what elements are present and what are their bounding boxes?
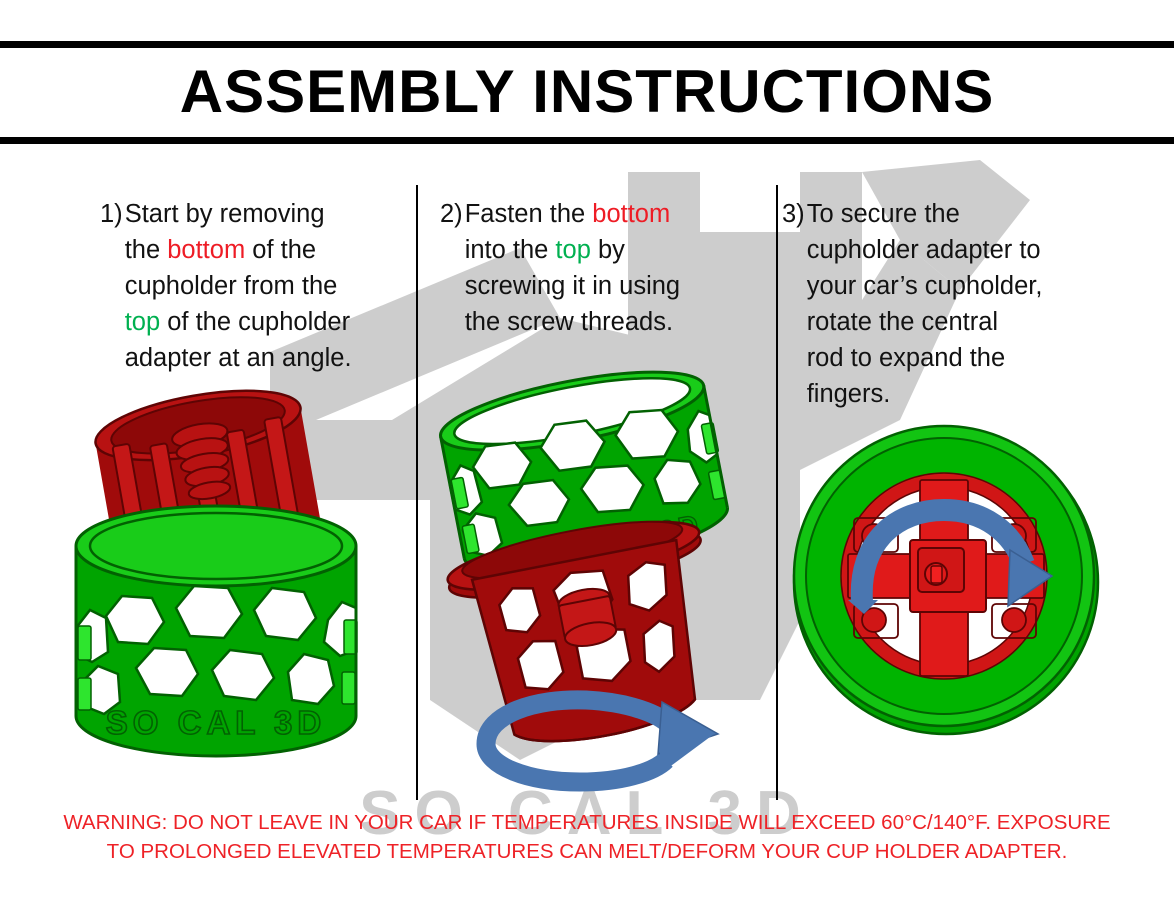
step-line: rotate the central (807, 304, 1082, 340)
step-line: top of the cupholder (125, 304, 400, 340)
figure-step-3 (786, 414, 1106, 744)
step-1-number: 1) (100, 196, 125, 232)
step-text-segment: rotate the central (807, 308, 998, 336)
step-2-number: 2) (440, 196, 465, 232)
step-text-highlight-red: bottom (592, 200, 670, 228)
step-line: the bottom of the (125, 232, 400, 268)
step-column-3: 3) To secure thecupholder adapter toyour… (782, 196, 1082, 412)
step-line: your car’s cupholder, (807, 268, 1082, 304)
warning-line-1: WARNING: DO NOT LEAVE IN YOUR CAR IF TEM… (50, 808, 1124, 837)
step-2-text: Fasten the bottominto the top byscrewing… (465, 196, 740, 340)
step-text-segment: rod to expand the (807, 344, 1005, 372)
step-text-segment: Start by removing (125, 200, 325, 228)
warning-line-2: TO PROLONGED ELEVATED TEMPERATURES CAN M… (50, 837, 1124, 866)
step-line: the screw threads. (465, 304, 740, 340)
step-text-segment: the screw threads. (465, 308, 673, 336)
assembly-instructions-page: SO CAL 3D ASSEMBLY INSTRUCTIONS 1) Start… (0, 0, 1174, 902)
step-text-segment: adapter at an angle. (125, 344, 352, 372)
step-text-segment: screwing it in using (465, 272, 680, 300)
step-line: To secure the (807, 196, 1082, 232)
step-column-1: 1) Start by removingthe bottom of thecup… (100, 196, 400, 376)
step-line: screwing it in using (465, 268, 740, 304)
step-2: 2) Fasten the bottominto the top byscrew… (440, 196, 740, 340)
step-text-segment: To secure the (807, 200, 960, 228)
step-text-segment: of the cupholder (160, 308, 350, 336)
step-text-segment: into the (465, 236, 556, 264)
step-text-segment: cupholder from the (125, 272, 338, 300)
step-text-segment: the (125, 236, 168, 264)
step-text-segment: cupholder adapter to (807, 236, 1041, 264)
step-text-segment: fingers. (807, 380, 891, 408)
step-line: into the top by (465, 232, 740, 268)
step-column-2: 2) Fasten the bottominto the top byscrew… (440, 196, 740, 340)
step-line: cupholder adapter to (807, 232, 1082, 268)
column-divider-1 (416, 185, 418, 800)
step-3: 3) To secure thecupholder adapter toyour… (782, 196, 1082, 412)
step-text-segment: by (591, 236, 625, 264)
step-text-highlight-red: bottom (167, 236, 245, 264)
step-line: Start by removing (125, 196, 400, 232)
step-text-highlight-green: top (125, 308, 160, 336)
step-3-text: To secure thecupholder adapter toyour ca… (807, 196, 1082, 412)
central-rod (910, 540, 986, 612)
figure-step-2: SO CAL 3D (424, 362, 760, 792)
step-line: fingers. (807, 376, 1082, 412)
header-rule-bottom (0, 137, 1174, 144)
step-3-number: 3) (782, 196, 807, 232)
warning-text: WARNING: DO NOT LEAVE IN YOUR CAR IF TEM… (50, 808, 1124, 866)
page-title: ASSEMBLY INSTRUCTIONS (0, 50, 1174, 134)
column-divider-2 (776, 185, 778, 800)
figure-step-1: SO CAL 3D (36, 386, 406, 786)
header-rule-top (0, 41, 1174, 48)
step-1: 1) Start by removingthe bottom of thecup… (100, 196, 400, 376)
step-text-segment: Fasten the (465, 200, 593, 228)
step-line: rod to expand the (807, 340, 1082, 376)
step-text-highlight-green: top (555, 236, 590, 264)
step-line: cupholder from the (125, 268, 400, 304)
step-text-segment: of the (245, 236, 316, 264)
step-line: adapter at an angle. (125, 340, 400, 376)
figure-1-brand-emboss: SO CAL 3D (106, 704, 326, 741)
step-1-text: Start by removingthe bottom of thecuphol… (125, 196, 400, 376)
step-text-segment: your car’s cupholder, (807, 272, 1043, 300)
step-line: Fasten the bottom (465, 196, 740, 232)
